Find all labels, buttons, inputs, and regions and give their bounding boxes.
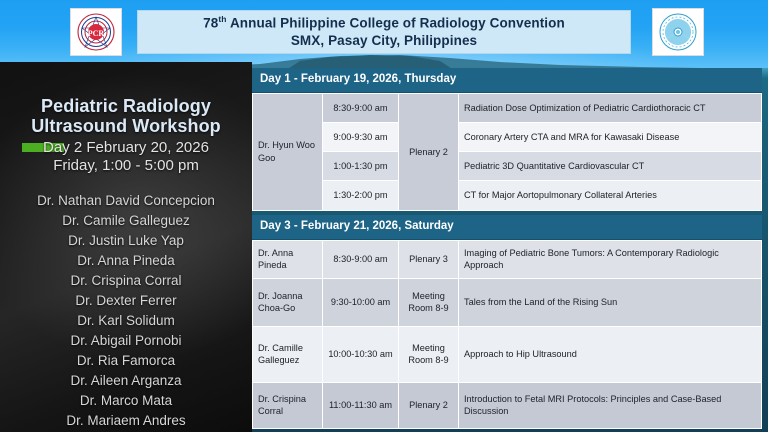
header-banner: PCR 78th Annual Philippine College of Ra… — [0, 0, 768, 62]
cell-time: 9:00-9:30 am — [323, 122, 399, 151]
svg-text:PCR: PCR — [88, 29, 105, 38]
philippine-college-of-radiology-seal-icon: PCR — [70, 8, 122, 56]
cell-topic: CT for Major Aortopulmonary Collateral A… — [459, 180, 762, 210]
day-header: Day 3 - February 21, 2026, Saturday — [252, 215, 762, 240]
faculty-name: Dr. Anna Pineda — [6, 251, 246, 271]
cell-speaker: Dr. Camille Galleguez — [253, 326, 323, 382]
cell-topic: Pediatric 3D Quantitative Cardiovascular… — [459, 151, 762, 180]
cell-room: Plenary 3 — [399, 240, 459, 278]
convention-title-line2: SMX, Pasay City, Philippines — [291, 33, 477, 49]
schedule-table: Day 1 - February 19, 2026, ThursdayDr. H… — [252, 68, 762, 429]
cell-speaker: Dr. Joanna Choa-Go — [253, 278, 323, 326]
cell-time: 9:30-10:00 am — [323, 278, 399, 326]
cell-topic: Approach to Hip Ultrasound — [459, 326, 762, 382]
workshop-title: Pediatric Radiology Ultrasound Workshop — [6, 96, 246, 136]
cell-time: 1:30-2:00 pm — [323, 180, 399, 210]
table-row: 1:30-2:00 pmCT for Major Aortopulmonary … — [253, 180, 762, 210]
cell-speaker: Dr. Hyun Woo Goo — [253, 93, 323, 210]
cell-room: Meeting Room 8-9 — [399, 326, 459, 382]
table-row: Dr. Crispina Corral11:00-11:30 amPlenary… — [253, 382, 762, 428]
cell-time: 11:00-11:30 am — [323, 382, 399, 428]
faculty-name: Dr. Crispina Corral — [6, 271, 246, 291]
cell-room: Plenary 2 — [399, 93, 459, 210]
faculty-name: Dr. Abigail Pornobi — [6, 331, 246, 351]
cell-room: Meeting Room 8-9 — [399, 278, 459, 326]
table-row: Dr. Camille Galleguez10:00-10:30 amMeeti… — [253, 326, 762, 382]
table-row: 1:00-1:30 pmPediatric 3D Quantitative Ca… — [253, 151, 762, 180]
faculty-name: Dr. Aileen Arganza — [6, 371, 246, 391]
cell-speaker: Dr. Anna Pineda — [253, 240, 323, 278]
cell-topic: Introduction to Fetal MRI Protocols: Pri… — [459, 382, 762, 428]
cell-time: 8:30-9:00 am — [323, 93, 399, 122]
table-row: Dr. Hyun Woo Goo8:30-9:00 amPlenary 2Rad… — [253, 93, 762, 122]
workshop-time: Friday, 1:00 - 5:00 pm — [6, 157, 246, 175]
faculty-name: Dr. Nathan David Concepcion — [6, 191, 246, 211]
day-schedule-grid: Dr. Anna Pineda8:30-9:00 amPlenary 3Imag… — [252, 240, 762, 429]
faculty-name: Dr. Ria Famorca — [6, 351, 246, 371]
table-row: Dr. Anna Pineda8:30-9:00 amPlenary 3Imag… — [253, 240, 762, 278]
faculty-name: Dr. Justin Luke Yap — [6, 231, 246, 251]
cell-topic: Coronary Artery CTA and MRA for Kawasaki… — [459, 122, 762, 151]
cell-time: 10:00-10:30 am — [323, 326, 399, 382]
radiology-society-seal-icon — [652, 8, 704, 56]
workshop-sidebar: Pediatric Radiology Ultrasound Workshop … — [0, 62, 252, 432]
cell-speaker: Dr. Crispina Corral — [253, 382, 323, 428]
cell-topic: Imaging of Pediatric Bone Tumors: A Cont… — [459, 240, 762, 278]
table-row: 9:00-9:30 amCoronary Artery CTA and MRA … — [253, 122, 762, 151]
cell-time: 8:30-9:00 am — [323, 240, 399, 278]
convention-title-box: 78th Annual Philippine College of Radiol… — [137, 10, 631, 54]
cell-topic: Radiation Dose Optimization of Pediatric… — [459, 93, 762, 122]
faculty-name: Dr. Karl Solidum — [6, 311, 246, 331]
day-header: Day 1 - February 19, 2026, Thursday — [252, 68, 762, 93]
workshop-title-line1: Pediatric Radiology — [6, 96, 246, 116]
workshop-info: Pediatric Radiology Ultrasound Workshop … — [0, 96, 252, 431]
faculty-name: Dr. Marco Mata — [6, 391, 246, 411]
faculty-name: Dr. Dexter Ferrer — [6, 291, 246, 311]
table-row: Dr. Joanna Choa-Go9:30-10:00 amMeeting R… — [253, 278, 762, 326]
faculty-name: Dr. Mariaem Andres — [6, 411, 246, 431]
cell-topic: Tales from the Land of the Rising Sun — [459, 278, 762, 326]
cell-room: Plenary 2 — [399, 382, 459, 428]
cell-time: 1:00-1:30 pm — [323, 151, 399, 180]
convention-title-line1: 78th Annual Philippine College of Radiol… — [203, 15, 565, 31]
faculty-name: Dr. Camile Galleguez — [6, 211, 246, 231]
workshop-date: Day 2 February 20, 2026 — [6, 139, 246, 157]
faculty-list: Dr. Nathan David ConcepcionDr. Camile Ga… — [6, 191, 246, 431]
day-schedule-grid: Dr. Hyun Woo Goo8:30-9:00 amPlenary 2Rad… — [252, 93, 762, 211]
workshop-title-line2: Ultrasound Workshop — [6, 116, 246, 136]
